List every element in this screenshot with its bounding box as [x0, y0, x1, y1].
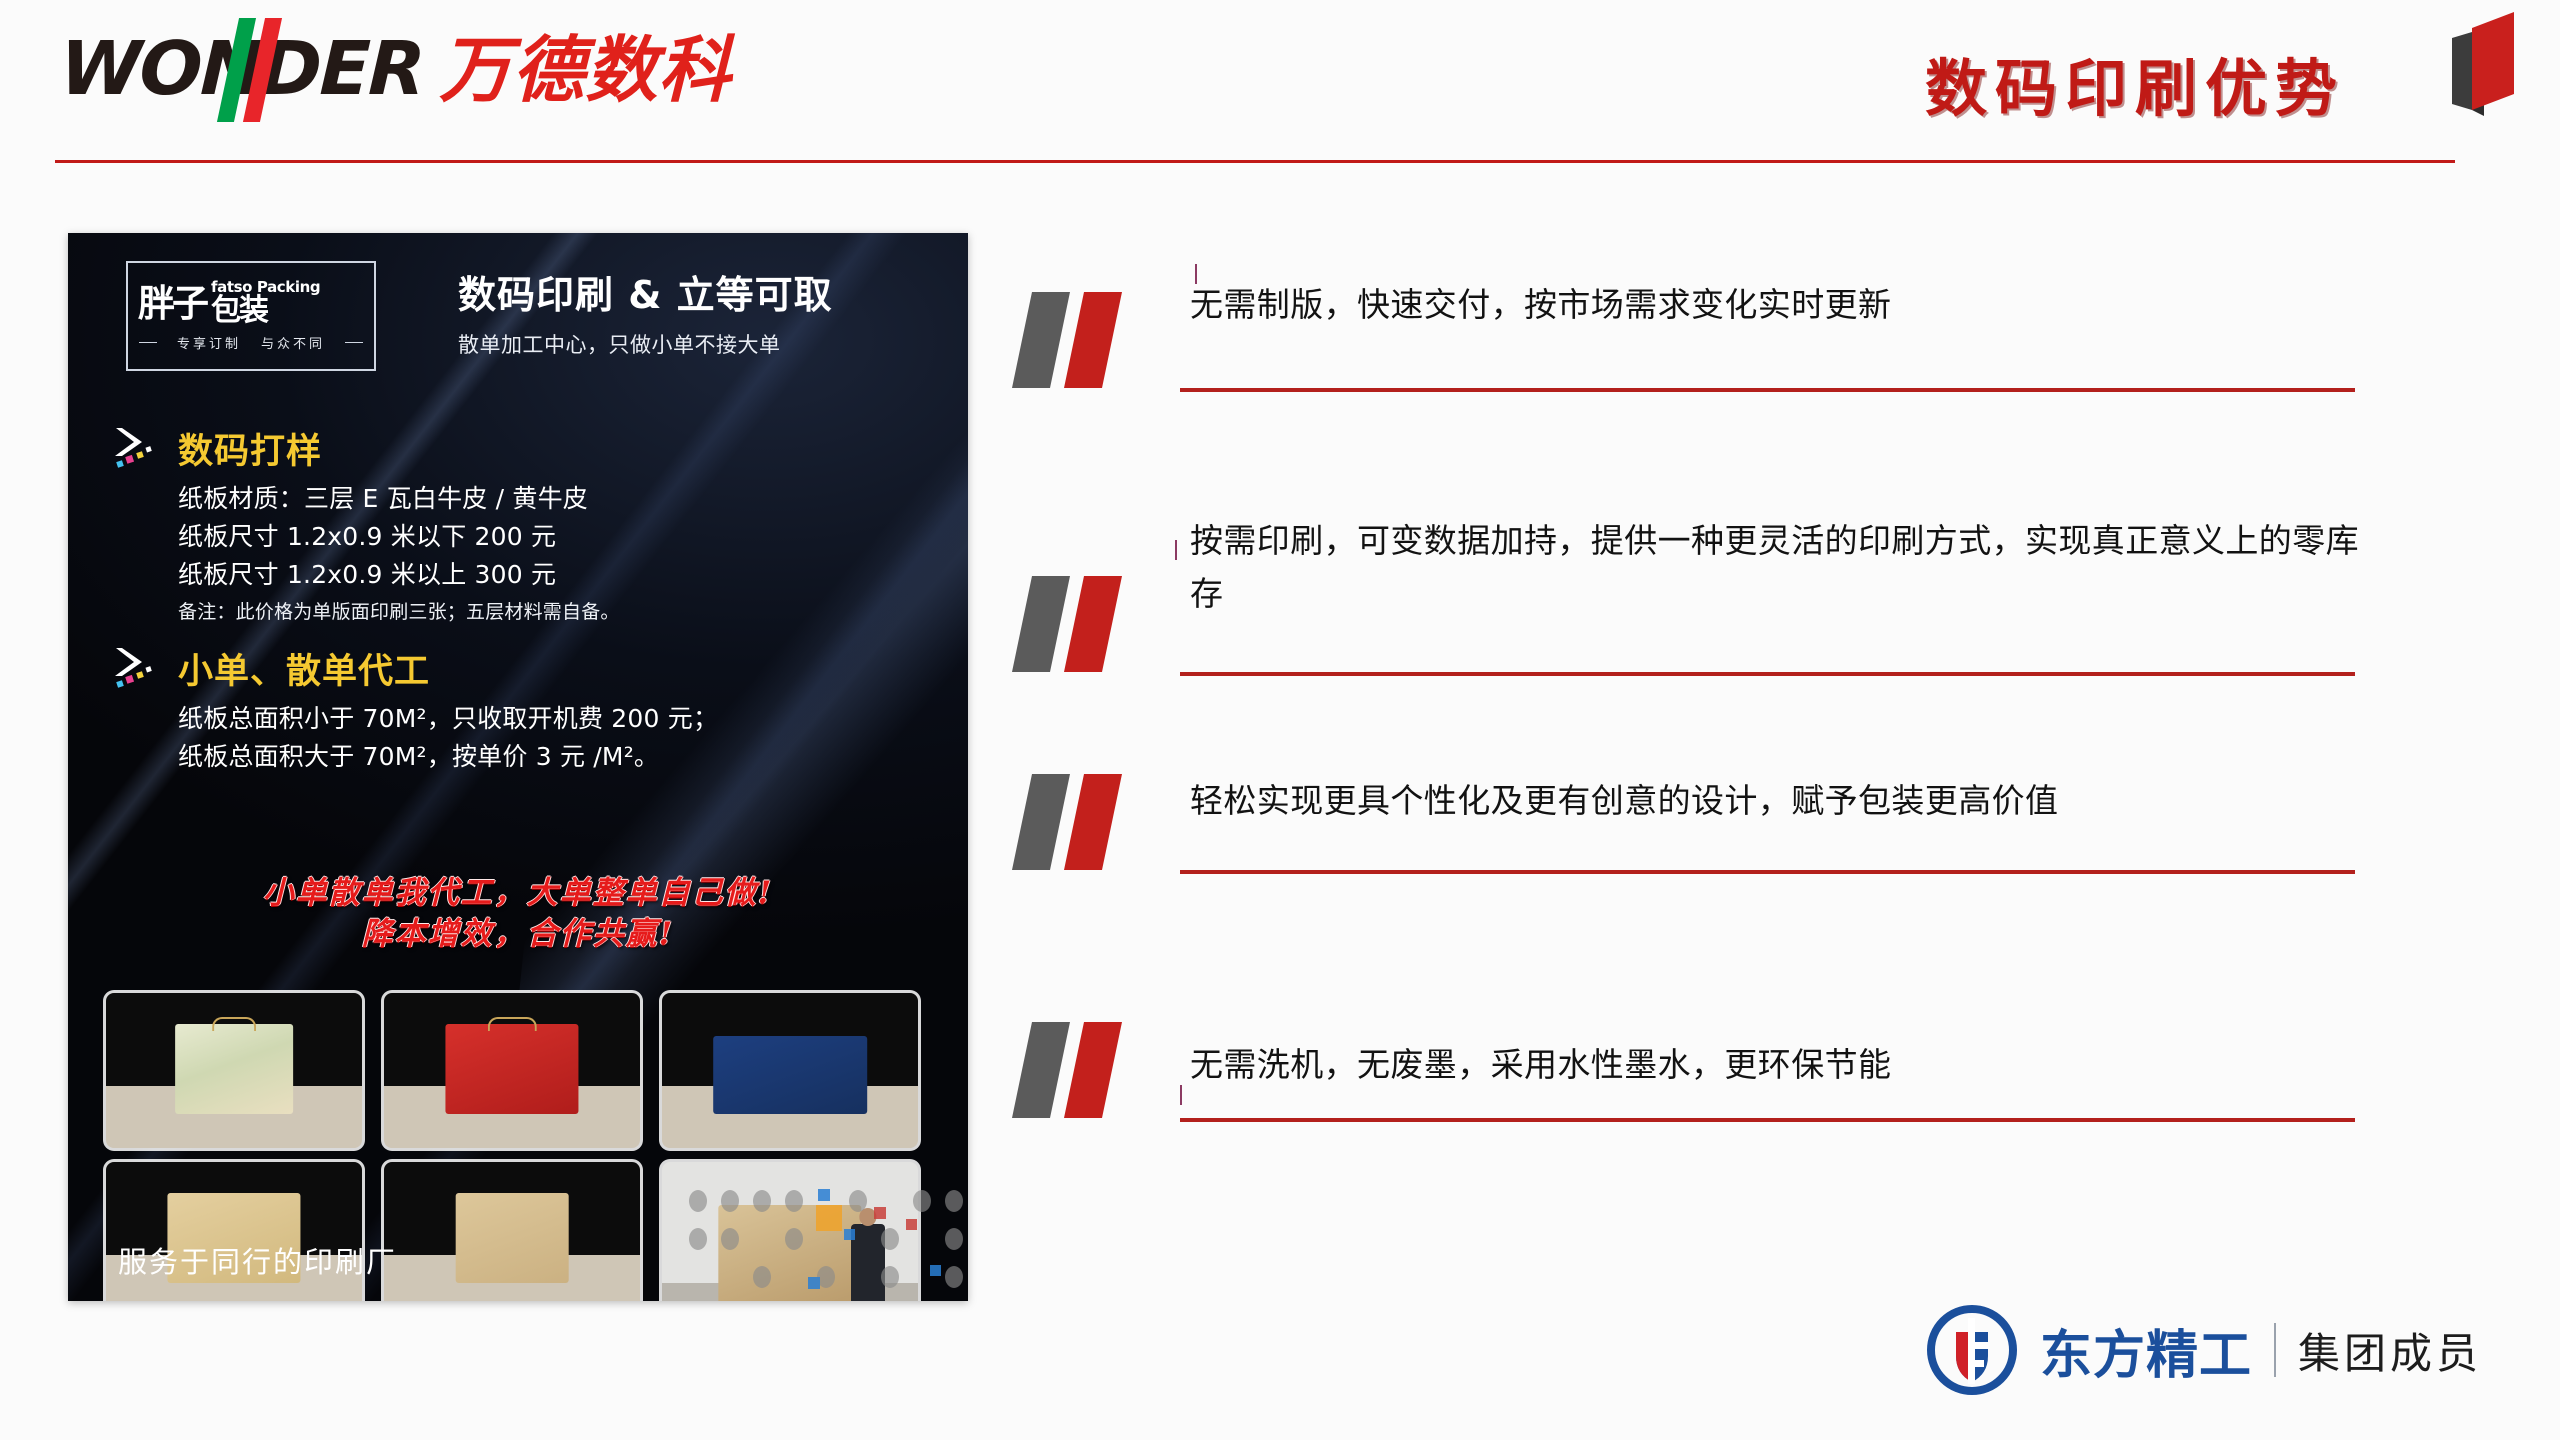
advantage-text: 轻松实现更具个性化及更有创意的设计，赋予包装更高价值	[1190, 774, 2370, 827]
footer-member-label: 集团成员	[2298, 1320, 2482, 1381]
section-1-note: 备注：此价格为单版面印刷三张；五层材料需自备。	[178, 597, 620, 624]
footer-company-name: 东方精工	[2040, 1313, 2252, 1388]
advantage-underline	[1180, 1118, 2355, 1122]
text-caret	[1195, 264, 1197, 284]
section-1-line-2: 纸板尺寸 1.2x0.9 米以下 200 元	[178, 518, 620, 556]
text-caret	[1180, 1085, 1182, 1105]
section-2-line-1: 纸板总面积小于 70M²，只收取开机费 200 元；	[178, 700, 718, 738]
dongfang-jinggong-logo-icon	[1926, 1304, 2018, 1396]
product-photo	[662, 993, 918, 1148]
slide-root: WONDER 万德数科 数码印刷优势 胖子 fatso Packing 包装	[0, 0, 2560, 1440]
advantage-text: 按需印刷，可变数据加持，提供一种更灵活的印刷方式，实现真正意义上的零库存	[1190, 514, 2370, 621]
poster-subheadline: 散单加工中心，只做小单不接大单	[458, 329, 928, 359]
double-slant-bar-icon	[1010, 576, 1180, 676]
halftone-dots-decoration	[678, 1185, 968, 1301]
advantage-text: 无需洗机，无废墨，采用水性墨水，更环保节能	[1190, 1038, 2370, 1091]
promo-poster-image: 胖子 fatso Packing 包装 专享订制 与众不同 数码印刷 & 立等可…	[68, 233, 968, 1301]
section-1-line-3: 纸板尺寸 1.2x0.9 米以上 300 元	[178, 556, 620, 594]
slogan-line-2: 降本增效，合作共赢!	[68, 914, 968, 955]
header-divider	[55, 160, 2455, 163]
advantage-item: 无需洗机，无废墨，采用水性墨水，更环保节能	[1010, 976, 2470, 1218]
product-photo	[106, 993, 362, 1148]
poster-headline-block: 数码印刷 & 立等可取 散单加工中心，只做小单不接大单	[458, 273, 928, 359]
text-caret	[1175, 540, 1177, 560]
slogan-line-1: 小单散单我代工，大单整单自己做!	[68, 873, 968, 914]
fatso-tag-right: 与众不同	[261, 333, 325, 352]
advantage-underline	[1180, 870, 2355, 874]
advantage-item: 按需印刷，可变数据加持，提供一种更灵活的印刷方式，实现真正意义上的零库存	[1010, 492, 2470, 734]
poster-footer-text: 服务于同行的印刷厂	[118, 1239, 397, 1281]
advantage-text: 无需制版，快速交付，按市场需求变化实时更新	[1190, 278, 2370, 331]
section-title-1: 数码打样	[178, 423, 322, 474]
product-photo	[384, 1162, 640, 1301]
fatso-logo-packaging: 包装	[211, 296, 320, 326]
brand-chinese-text: 万德数科	[439, 34, 731, 106]
product-photo	[384, 993, 640, 1148]
brand-logo: WONDER 万德数科	[60, 32, 731, 106]
page-title: 数码印刷优势	[1925, 38, 2345, 128]
footer-divider	[2274, 1323, 2276, 1377]
fatso-logo-cn: 胖子	[138, 285, 206, 322]
double-slant-bar-icon	[1010, 1022, 1180, 1122]
fatso-packing-logo: 胖子 fatso Packing 包装 专享订制 与众不同	[126, 261, 376, 371]
advantage-underline	[1180, 672, 2355, 676]
advantage-item: 轻松实现更具个性化及更有创意的设计，赋予包装更高价值	[1010, 734, 2470, 976]
poster-headline: 数码印刷 & 立等可取	[458, 273, 928, 319]
brand-latin-text: WONDER	[59, 32, 425, 106]
advantages-list: 无需制版，快速交付，按市场需求变化实时更新 按需印刷，可变数据加持，提供一种更灵…	[1010, 250, 2470, 1218]
chevron-arrow-icon	[112, 646, 168, 692]
section-2-line-2: 纸板总面积大于 70M²，按单价 3 元 /M²。	[178, 738, 718, 776]
advantage-item: 无需制版，快速交付，按市场需求变化实时更新	[1010, 250, 2470, 492]
section-1-line-1: 纸板材质：三层 E 瓦白牛皮 / 黄牛皮	[178, 480, 620, 518]
poster-section-oem: 小单、散单代工 纸板总面积小于 70M²，只收取开机费 200 元； 纸板总面积…	[112, 643, 718, 776]
chevron-arrow-icon	[112, 426, 168, 472]
poster-slogan: 小单散单我代工，大单整单自己做! 降本增效，合作共赢!	[68, 873, 968, 955]
slide-header: WONDER 万德数科 数码印刷优势	[0, 0, 2560, 170]
double-slant-bar-icon	[1010, 292, 1180, 392]
folded-page-icon	[2428, 8, 2538, 118]
advantage-underline	[1180, 388, 2355, 392]
group-footer-logo: 东方精工 集团成员	[1926, 1304, 2482, 1396]
section-title-2: 小单、散单代工	[178, 643, 430, 694]
fatso-tag-left: 专享订制	[177, 333, 241, 352]
double-slant-bar-icon	[1010, 774, 1180, 874]
poster-section-proofing: 数码打样 纸板材质：三层 E 瓦白牛皮 / 黄牛皮 纸板尺寸 1.2x0.9 米…	[112, 423, 620, 624]
